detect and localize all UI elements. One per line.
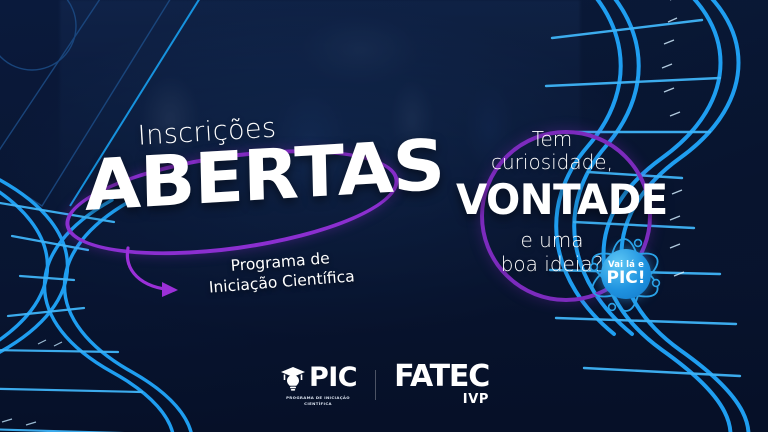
pic-tagline-line-1: PROGRAMA DE INICIAÇÃO (286, 395, 350, 401)
left-headline-block: Inscrições ABERTAS (81, 108, 386, 221)
pic-logo-row: PIC (279, 364, 357, 392)
right-line-1a: Tem (452, 128, 652, 151)
headline-wrapper: ABERTAS (83, 133, 387, 221)
fatec-unit: IVP (463, 393, 489, 406)
pic-logo[interactable]: PIC PROGRAMA DE INICIAÇÃO CIENTÍFICA (279, 364, 357, 407)
pic-tagline-line-2: CIENTÍFICA (286, 401, 350, 407)
pic-tagline: PROGRAMA DE INICIAÇÃO CIENTÍFICA (286, 395, 350, 407)
right-line-1b: curiosidade, (452, 151, 652, 174)
pic-wordmark: PIC (309, 364, 357, 391)
badge-core: Vai lá e PIC! (601, 249, 651, 299)
right-line-1: Tem curiosidade, (452, 128, 652, 174)
badge-main-text: PIC! (606, 270, 645, 287)
footer-divider (375, 370, 376, 400)
page-title: ABERTAS (84, 132, 397, 221)
fatec-logo[interactable]: FATEC IVP (394, 362, 489, 408)
fatec-wordmark: FATEC (394, 362, 489, 392)
right-emphasis: VONTADE (456, 178, 648, 222)
graduation-lightbulb-icon (279, 364, 307, 392)
vai-la-e-pic-badge[interactable]: Vai lá e PIC! (586, 236, 664, 314)
footer-logos: PIC PROGRAMA DE INICIAÇÃO CIENTÍFICA FAT… (0, 362, 768, 408)
promo-banner: Inscrições ABERTAS Programa de Iniciação… (0, 0, 768, 432)
